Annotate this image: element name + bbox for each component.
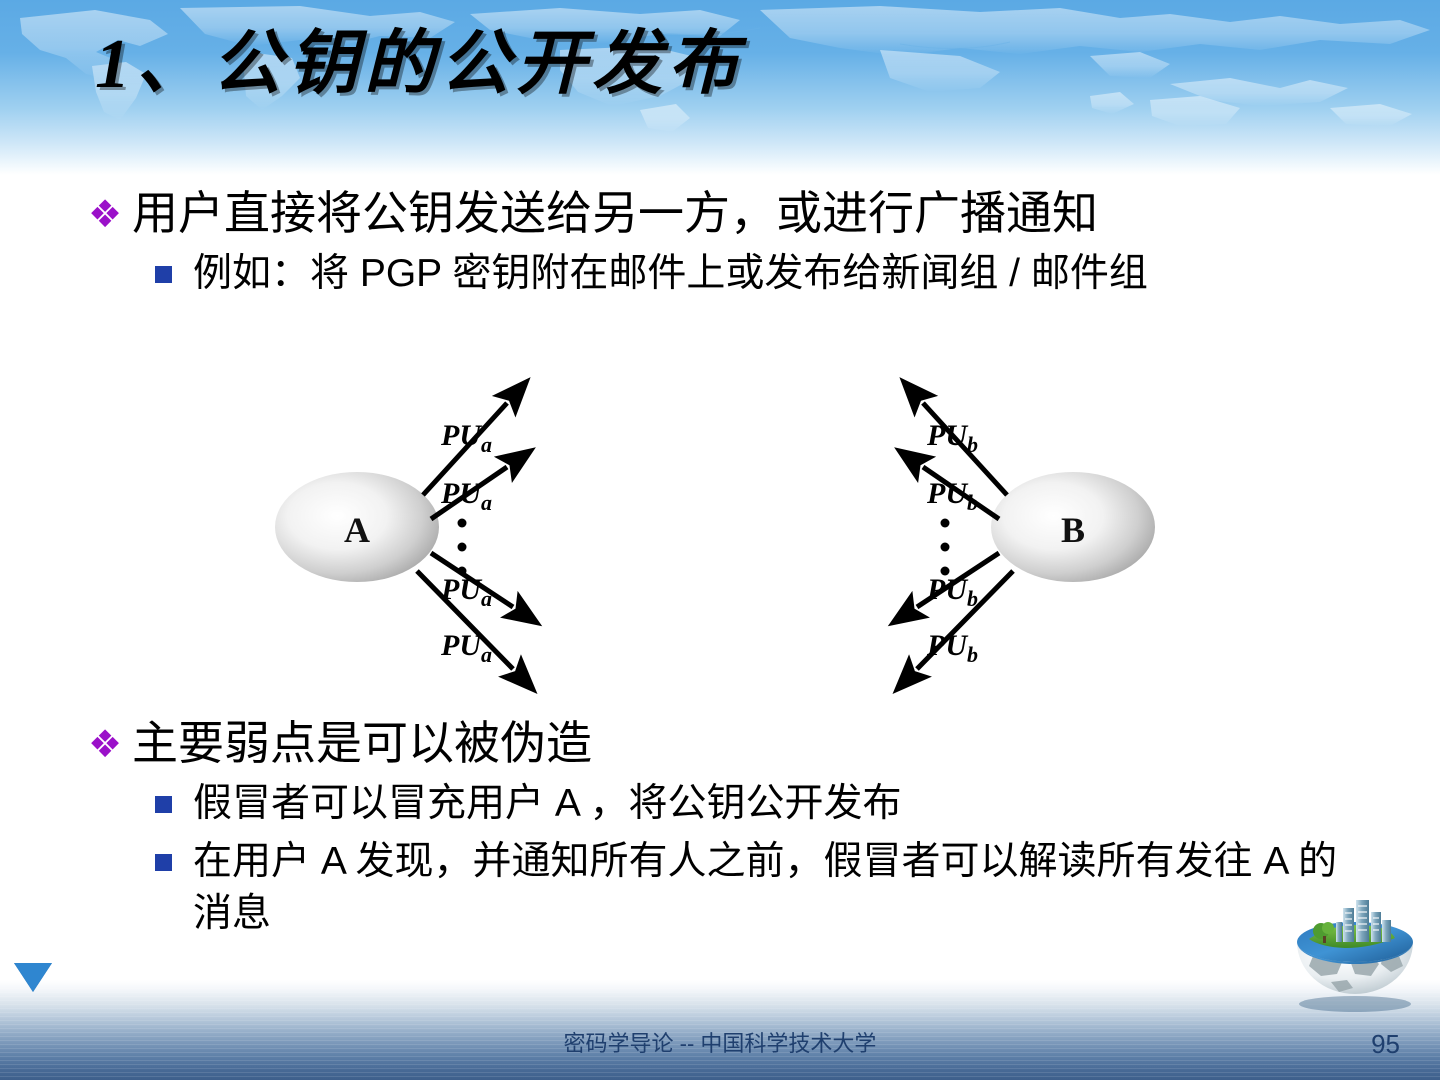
public-key-broadcast-diagram: A PUa PUa PUa PUa	[245, 375, 1185, 697]
bullet-level1-item: ❖ 主要弱点是可以被伪造	[88, 714, 1440, 772]
label-pub-1: PUb	[926, 419, 978, 457]
globe-icon	[1283, 898, 1428, 1018]
page-number: 95	[1371, 1029, 1400, 1060]
square-bullet-icon	[155, 266, 193, 283]
slide-body-lower: ❖ 主要弱点是可以被伪造 假冒者可以冒充用户 A ，将公钥公开发布 在用户 A …	[0, 700, 1440, 940]
slide-canvas: 1、公钥的公开发布 ❖ 用户直接将公钥发送给另一方，或进行广播通知 例如：将 P…	[0, 0, 1440, 1080]
diamond-cluster-bullet-icon: ❖	[88, 718, 132, 772]
triangle-down-icon[interactable]	[14, 963, 52, 992]
square-bullet-icon	[155, 854, 193, 871]
node-b-group: B	[991, 472, 1155, 582]
label-pub-4: PUb	[926, 629, 978, 667]
node-b-label: B	[1061, 510, 1085, 550]
square-bullet-icon	[155, 796, 193, 813]
label-pub-2: PUb	[926, 477, 978, 515]
bullet-level1-text: 用户直接将公钥发送给另一方，或进行广播通知	[132, 184, 1098, 242]
label-pua-4: PUa	[440, 629, 492, 667]
vertical-dots-b	[941, 519, 950, 576]
node-a-label: A	[344, 510, 370, 550]
bullet-level2-item: 在用户 A 发现，并通知所有人之前，假冒者可以解读所有发往 A 的消息	[155, 836, 1340, 940]
node-a-group: A	[275, 472, 439, 582]
diamond-cluster-bullet-icon: ❖	[88, 188, 132, 242]
label-pua-3: PUa	[440, 573, 492, 611]
diagram-svg: A PUa PUa PUa PUa	[245, 375, 1185, 697]
slide-body: ❖ 用户直接将公钥发送给另一方，或进行广播通知 例如：将 PGP 密钥附在邮件上…	[0, 170, 1440, 300]
bullet-level2-item: 例如：将 PGP 密钥附在邮件上或发布给新闻组 / 邮件组	[155, 248, 1355, 300]
vertical-dots-a	[458, 519, 467, 576]
bullet-level2-item: 假冒者可以冒充用户 A ，将公钥公开发布	[155, 778, 1355, 830]
bullet-level1-item: ❖ 用户直接将公钥发送给另一方，或进行广播通知	[88, 184, 1440, 242]
bullet-level2-text: 假冒者可以冒充用户 A ，将公钥公开发布	[193, 778, 902, 830]
slide-title: 1、公钥的公开发布	[95, 18, 744, 112]
bullet-level2-text: 在用户 A 发现，并通知所有人之前，假冒者可以解读所有发往 A 的消息	[193, 836, 1340, 940]
bullet-level2-text: 例如：将 PGP 密钥附在邮件上或发布给新闻组 / 邮件组	[193, 248, 1148, 300]
bullet-level1-text: 主要弱点是可以被伪造	[132, 714, 592, 772]
footer-text: 密码学导论 -- 中国科学技术大学	[0, 1026, 1440, 1058]
label-pub-3: PUb	[926, 573, 978, 611]
